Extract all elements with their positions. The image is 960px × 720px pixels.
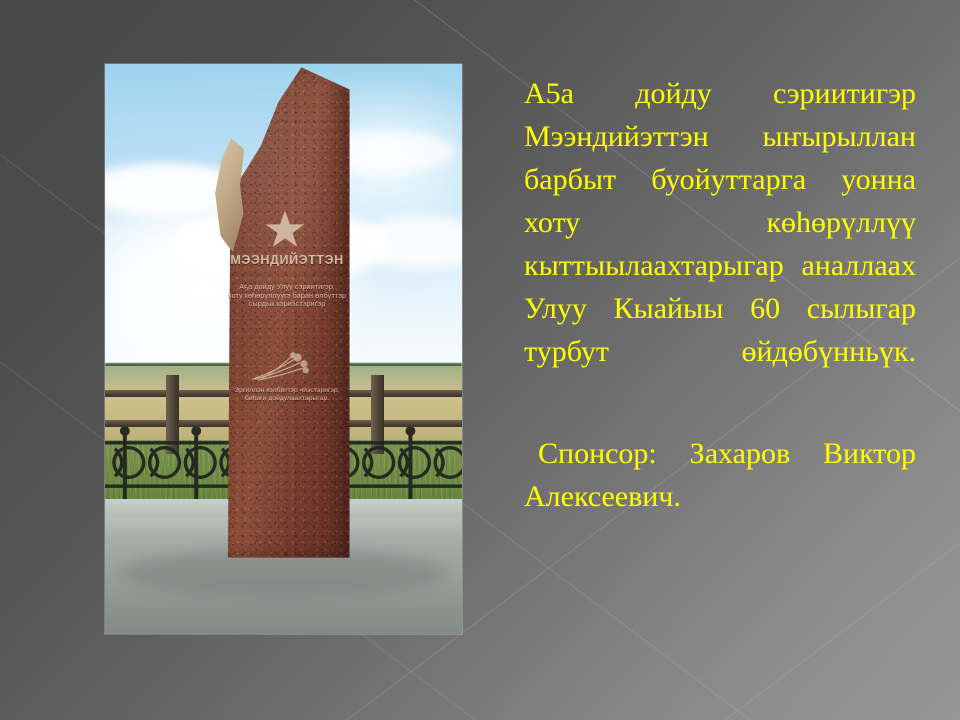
presentation-slide: МЭЭНДИЙЭТТЭН Аҕа дойду Улуу сэриитигэр, … [0,0,960,720]
caption-sponsor-paragraph: Спонсор: Захаров Виктор Алексеевич. [524,432,916,561]
caption-body-paragraph: A5a дойду сэриитигэр Мээндийэттэн ыҥырыл… [524,72,916,416]
stele-engraved-body: Аҕа дойду Улуу сэриитигэр, хоту көһөрүлл… [226,283,347,309]
five-pointed-star-icon [264,209,306,251]
engraved-line: биһиги дойдулаахтарыгар. [226,395,347,403]
memorial-stele-photograph: МЭЭНДИЙЭТТЭН Аҕа дойду Улуу сэриитигэр, … [105,64,462,634]
wheat-flower-relief-icon [249,350,321,384]
stele-engraved-lower: Эргиллэн кэлбиттэр чиэстэригэр, биһиги д… [226,387,347,403]
caption-text-block: A5a дойду сэриитигэр Мээндийэттэн ыҥырыл… [524,72,916,561]
stele-engraved-title: МЭЭНДИЙЭТТЭН [226,253,347,268]
engraved-line: сырдык кэриэстэригэр [226,300,347,309]
engraved-line: Эргиллэн кэлбиттэр чиэстэригэр, [226,387,347,395]
